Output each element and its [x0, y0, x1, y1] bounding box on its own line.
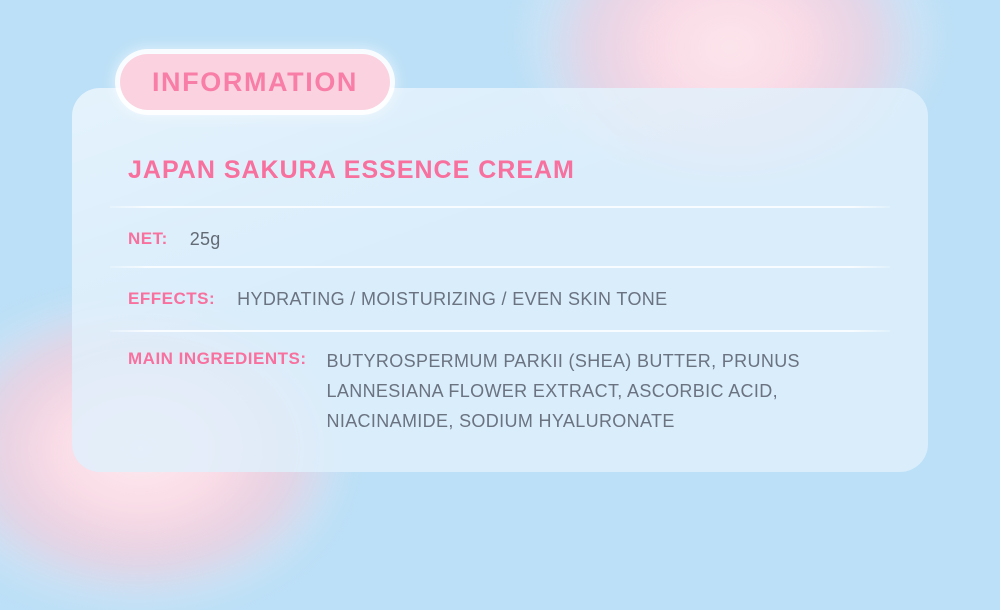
- spec-row-net: NET: 25g: [128, 226, 220, 252]
- information-card: JAPAN SAKURA ESSENCE CREAM NET: 25g EFFE…: [72, 88, 928, 472]
- ingredients-line: BUTYROSPERMUM PARKII (SHEA) BUTTER, PRUN…: [327, 346, 867, 376]
- information-badge: INFORMATION: [120, 54, 390, 110]
- spec-row-ingredients: MAIN INGREDIENTS: BUTYROSPERMUM PARKII (…: [128, 346, 867, 436]
- divider: [110, 330, 890, 332]
- divider: [110, 206, 890, 208]
- ingredients-line: LANNESIANA FLOWER EXTRACT, ASCORBIC ACID…: [327, 376, 867, 406]
- spec-value-ingredients: BUTYROSPERMUM PARKII (SHEA) BUTTER, PRUN…: [327, 346, 867, 436]
- spec-row-effects: EFFECTS: HYDRATING / MOISTURIZING / EVEN…: [128, 286, 668, 312]
- spec-label-net: NET:: [128, 226, 168, 252]
- spec-label-ingredients: MAIN INGREDIENTS:: [128, 346, 307, 372]
- divider: [110, 266, 890, 268]
- product-title: JAPAN SAKURA ESSENCE CREAM: [128, 156, 575, 185]
- spec-label-effects: EFFECTS:: [128, 286, 215, 312]
- information-badge-label: INFORMATION: [152, 67, 358, 98]
- spec-value-net: 25g: [190, 226, 221, 252]
- ingredients-line: NIACINAMIDE, SODIUM HYALURONATE: [327, 406, 867, 436]
- spec-value-effects: HYDRATING / MOISTURIZING / EVEN SKIN TON…: [237, 286, 667, 312]
